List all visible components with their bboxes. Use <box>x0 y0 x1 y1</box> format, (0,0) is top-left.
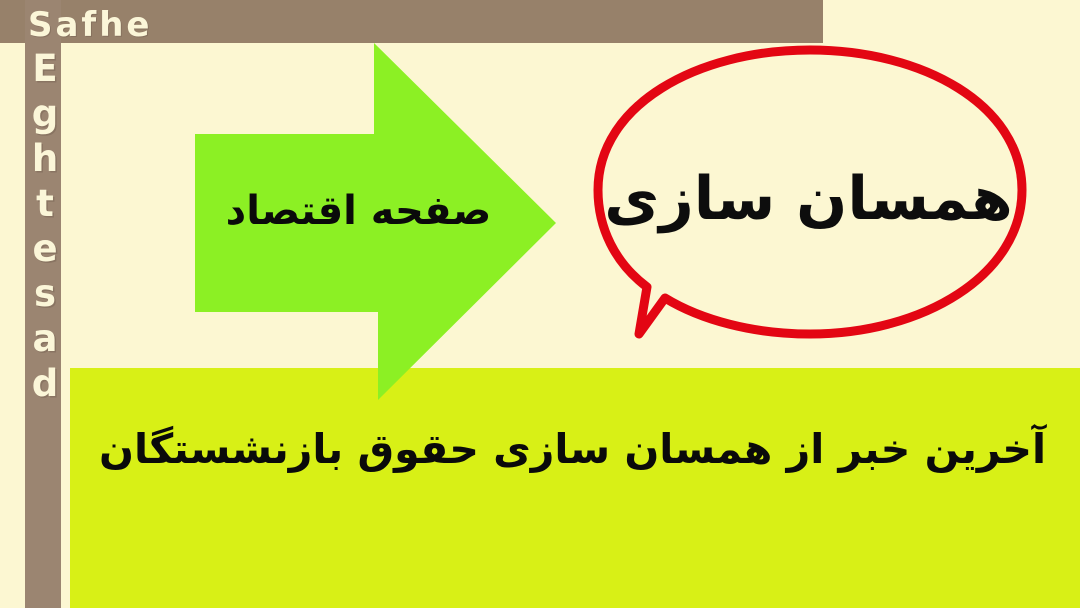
bottom-banner <box>70 368 1080 608</box>
brand-letter: h <box>32 136 58 181</box>
bottom-headline: آخرین خبر از همسان سازی حقوق بازنشستگان <box>70 418 1075 480</box>
brand-letter: t <box>36 181 54 226</box>
arrow-label: صفحه اقتصاد <box>196 186 521 236</box>
brand-wordmark-top: Safhe <box>28 6 228 46</box>
poster-canvas: Safhe E g h t e s a d صفحه اقتصاد همسان … <box>0 0 1080 608</box>
brand-letter: g <box>32 91 59 136</box>
brand-wordmark-vertical: E g h t e s a d <box>22 46 68 406</box>
brand-letter: a <box>33 316 58 361</box>
brand-letter: s <box>34 271 56 316</box>
brand-letter: d <box>32 361 59 406</box>
brand-letter: e <box>32 226 57 271</box>
speech-bubble-text: همسان سازی <box>596 160 1021 238</box>
brand-letter: E <box>32 46 57 91</box>
